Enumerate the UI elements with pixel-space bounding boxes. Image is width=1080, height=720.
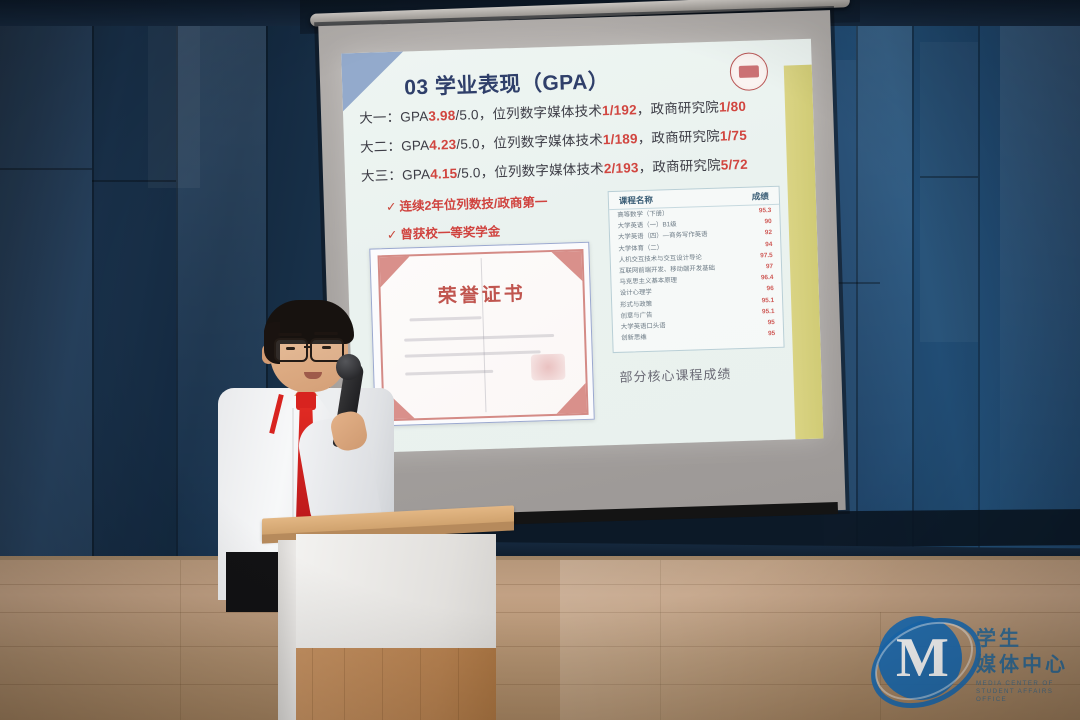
photo-scene: 03 学业表现（GPA） 大一：GPA3.98/5.0，位列数字媒体技术1/19…	[0, 0, 1080, 720]
watermark-chinese-line1: 学生	[976, 626, 1068, 652]
monogram-m: M	[896, 630, 949, 686]
check-icon: ✓	[387, 228, 398, 242]
panel-seam	[920, 176, 978, 178]
eyebrow	[314, 332, 338, 335]
watermark-english-line1: MEDIA CENTER OF	[976, 680, 1072, 688]
eye	[286, 347, 295, 350]
watermark-english: MEDIA CENTER OF STUDENT AFFAIRS OFFICE	[976, 680, 1072, 704]
wall-panel	[0, 0, 92, 560]
checklist-item: ✓曾获校一等奖学金	[387, 216, 637, 243]
grade-table-col-course: 课程名称	[619, 194, 653, 207]
panel-seam	[92, 180, 176, 182]
watermark-english-line2: STUDENT AFFAIRS OFFICE	[976, 688, 1072, 704]
wall-panel	[1000, 0, 1080, 560]
panel-seam	[0, 168, 92, 170]
watermark-logo: M 学生 媒体中心 MEDIA CENTER OF STUDENT AFFAIR…	[872, 604, 1072, 712]
watermark-chinese: 学生 媒体中心	[976, 626, 1068, 678]
watermark-chinese-line2: 媒体中心	[976, 652, 1068, 678]
certificate-stamp	[531, 354, 566, 381]
panel-seam	[912, 0, 914, 560]
wall-panel	[148, 18, 200, 188]
podium-base	[296, 648, 496, 720]
wall-panel	[912, 0, 978, 560]
slide-title: 03 学业表现（GPA）	[404, 65, 610, 101]
grade-table-caption: 部分核心课程成绩	[619, 363, 732, 386]
grade-table-col-score: 成绩	[752, 190, 769, 203]
certificate-corner-ornament	[556, 383, 587, 414]
slide-corner-decoration	[341, 52, 405, 112]
necktie-knot	[296, 392, 316, 410]
panel-seam	[92, 0, 94, 560]
gpa-row: 大三：GPA4.15/5.0，位列数字媒体技术2/193，政商研究院5/72	[361, 151, 807, 185]
panel-seam	[856, 0, 858, 560]
eye	[322, 346, 331, 349]
gpa-list: 大一：GPA3.98/5.0，位列数字媒体技术1/192，政商研究院1/80 大…	[359, 93, 808, 194]
wall-panel	[856, 0, 912, 560]
grade-table: 课程名称 成绩 高等数学（下册）95.3 大学英语（一）B1级90 大学英语（四…	[608, 186, 785, 353]
panel-seam	[176, 0, 178, 560]
gpa-row: 大二：GPA4.23/5.0，位列数字媒体技术1/189，政商研究院1/75	[360, 122, 806, 156]
eyebrow	[278, 333, 302, 336]
panel-seam	[978, 0, 980, 560]
checklist-item: ✓连续2年位列数技/政商第一	[386, 188, 636, 215]
check-icon: ✓	[386, 200, 397, 214]
university-seal-icon	[729, 52, 768, 91]
